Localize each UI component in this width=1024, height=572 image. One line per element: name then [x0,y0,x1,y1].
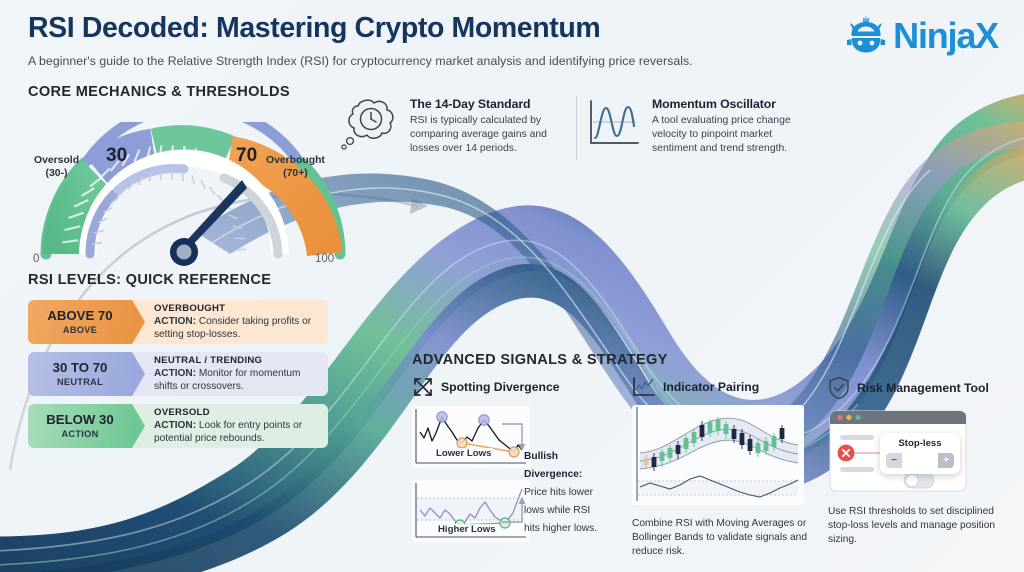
slider-track[interactable] [902,453,938,468]
gauge-overbought-range: (70+) [283,168,308,179]
bullish-divergence-note: Bullish Divergence: Price hits lower low… [524,446,608,536]
gauge-oversold-range: (30-) [46,168,68,179]
gauge-threshold-70: 70 [236,145,257,167]
panel-risk-management: Risk Management Tool Stop-less [828,376,1008,547]
rsi-gauge: Oversold (30-) Overbought (70+) 30 70 0 … [28,122,358,272]
info-card-divider [576,96,577,160]
panel-indicator-pairing: Indicator Pairing [632,376,812,559]
info-card-desc: A tool evaluating price change velocity … [652,114,811,155]
quick-reference-row[interactable]: 30 TO 70 NEUTRAL NEUTRAL / TRENDING ACTI… [28,352,328,396]
panel-header: Spotting Divergence [412,376,612,398]
chart-caption: Higher Lows [436,524,498,535]
level-tag: ABOVE 70 ABOVE [28,300,132,344]
quick-reference-row[interactable]: BELOW 30 ACTION OVERSOLD ACTION: Look fo… [28,404,328,448]
level-action: ACTION: Monitor for momentum shifts or c… [154,367,320,394]
level-body: OVERBOUGHT ACTION: Consider taking profi… [132,300,328,344]
bullish-divergence-text: Price hits lower lows while RSI hits hig… [524,487,597,534]
gauge-threshold-30: 30 [106,145,127,167]
gauge-oversold-label: Oversold (30-) [34,154,79,180]
gauge-overbought-text: Overbought [266,155,325,166]
panel-header: Indicator Pairing [632,376,812,398]
level-action: ACTION: Consider taking profits or setti… [154,315,320,342]
panel-header: Risk Management Tool [828,376,1008,400]
core-mechanics-heading: CORE MECHANICS & THRESHOLDS [28,84,358,100]
stop-loss-widget: Stop-less − + [828,409,978,497]
info-card-momentum-oscillator: Momentum Oscillator A tool evaluating pr… [586,96,811,155]
level-state: OVERSOLD [154,407,320,418]
level-action: ACTION: Look for entry points or potenti… [154,419,320,446]
stop-loss-slider[interactable]: − + [886,453,954,468]
level-tag-label: NEUTRAL [57,377,103,387]
info-card-text: The 14-Day Standard RSI is typically cal… [410,96,573,155]
thought-cloud-clock-icon [338,96,400,156]
trend-chart-icon [632,376,656,398]
quick-reference-heading: RSI LEVELS: QUICK REFERENCE [28,272,328,288]
slider-decrease-button[interactable]: − [886,453,902,468]
core-mechanics-section: CORE MECHANICS & THRESHOLDS [28,84,358,272]
level-range: BELOW 30 [46,413,113,427]
level-state: OVERBOUGHT [154,303,320,314]
level-tag: BELOW 30 ACTION [28,404,132,448]
level-tag: 30 TO 70 NEUTRAL [28,352,132,396]
gauge-overbought-label: Overbought (70+) [266,154,325,180]
logo-wordmark: NinjaX [893,18,998,54]
slider-increase-button[interactable]: + [938,453,954,468]
gauge-oversold-text: Oversold [34,155,79,166]
advanced-signals-heading: ADVANCED SIGNALS & STRATEGY [412,352,668,368]
chart-caption: Lower Lows [434,448,493,459]
panel-title: Risk Management Tool [857,381,989,395]
infographic-canvas: RSI Decoded: Mastering Crypto Momentum A… [0,0,1024,572]
panel-title: Spotting Divergence [441,380,560,394]
level-body: OVERSOLD ACTION: Look for entry points o… [132,404,328,448]
shield-check-icon [828,376,850,400]
bullish-divergence-title: Bullish Divergence: [524,451,582,480]
quick-reference-row[interactable]: ABOVE 70 ABOVE OVERBOUGHT ACTION: Consid… [28,300,328,344]
gauge-max-label: 100 [315,253,334,265]
panel-title: Indicator Pairing [663,380,759,394]
action-label: ACTION: [154,368,196,379]
action-label: ACTION: [154,316,196,327]
level-tag-label: ABOVE [63,325,97,335]
quick-reference-section: RSI LEVELS: QUICK REFERENCE ABOVE 70 ABO… [28,272,328,448]
level-range: 30 TO 70 [53,361,108,375]
crossing-arrows-icon [412,376,434,398]
panel-description: Use RSI thresholds to set disciplined st… [828,505,1000,547]
gauge-min-label: 0 [33,253,39,265]
brand-logo[interactable]: NinjaX [843,14,998,58]
page-header: RSI Decoded: Mastering Crypto Momentum A… [28,12,693,68]
candlestick-bollinger-chart [632,405,804,505]
gauge-dial [28,122,358,272]
samurai-helmet-icon [843,14,889,58]
info-card-desc: RSI is typically calculated by comparing… [410,114,573,155]
info-card-title: Momentum Oscillator [652,97,811,111]
oscillator-wave-icon [586,96,642,152]
panel-description: Combine RSI with Moving Averages or Boll… [632,517,808,559]
level-tag-label: ACTION [61,429,98,439]
info-card-title: The 14-Day Standard [410,97,573,111]
quick-reference-list: ABOVE 70 ABOVE OVERBOUGHT ACTION: Consid… [28,300,328,448]
info-card-text: Momentum Oscillator A tool evaluating pr… [652,96,811,155]
action-label: ACTION: [154,420,196,431]
info-card-14-day-standard: The 14-Day Standard RSI is typically cal… [338,96,573,156]
stop-loss-popover[interactable]: Stop-less − + [880,433,960,474]
level-body: NEUTRAL / TRENDING ACTION: Monitor for m… [132,352,328,396]
level-state: NEUTRAL / TRENDING [154,355,320,366]
stop-loss-label: Stop-less [886,438,954,449]
page-subtitle: A beginner's guide to the Relative Stren… [28,54,693,68]
level-range: ABOVE 70 [47,309,112,323]
page-title: RSI Decoded: Mastering Crypto Momentum [28,12,693,45]
